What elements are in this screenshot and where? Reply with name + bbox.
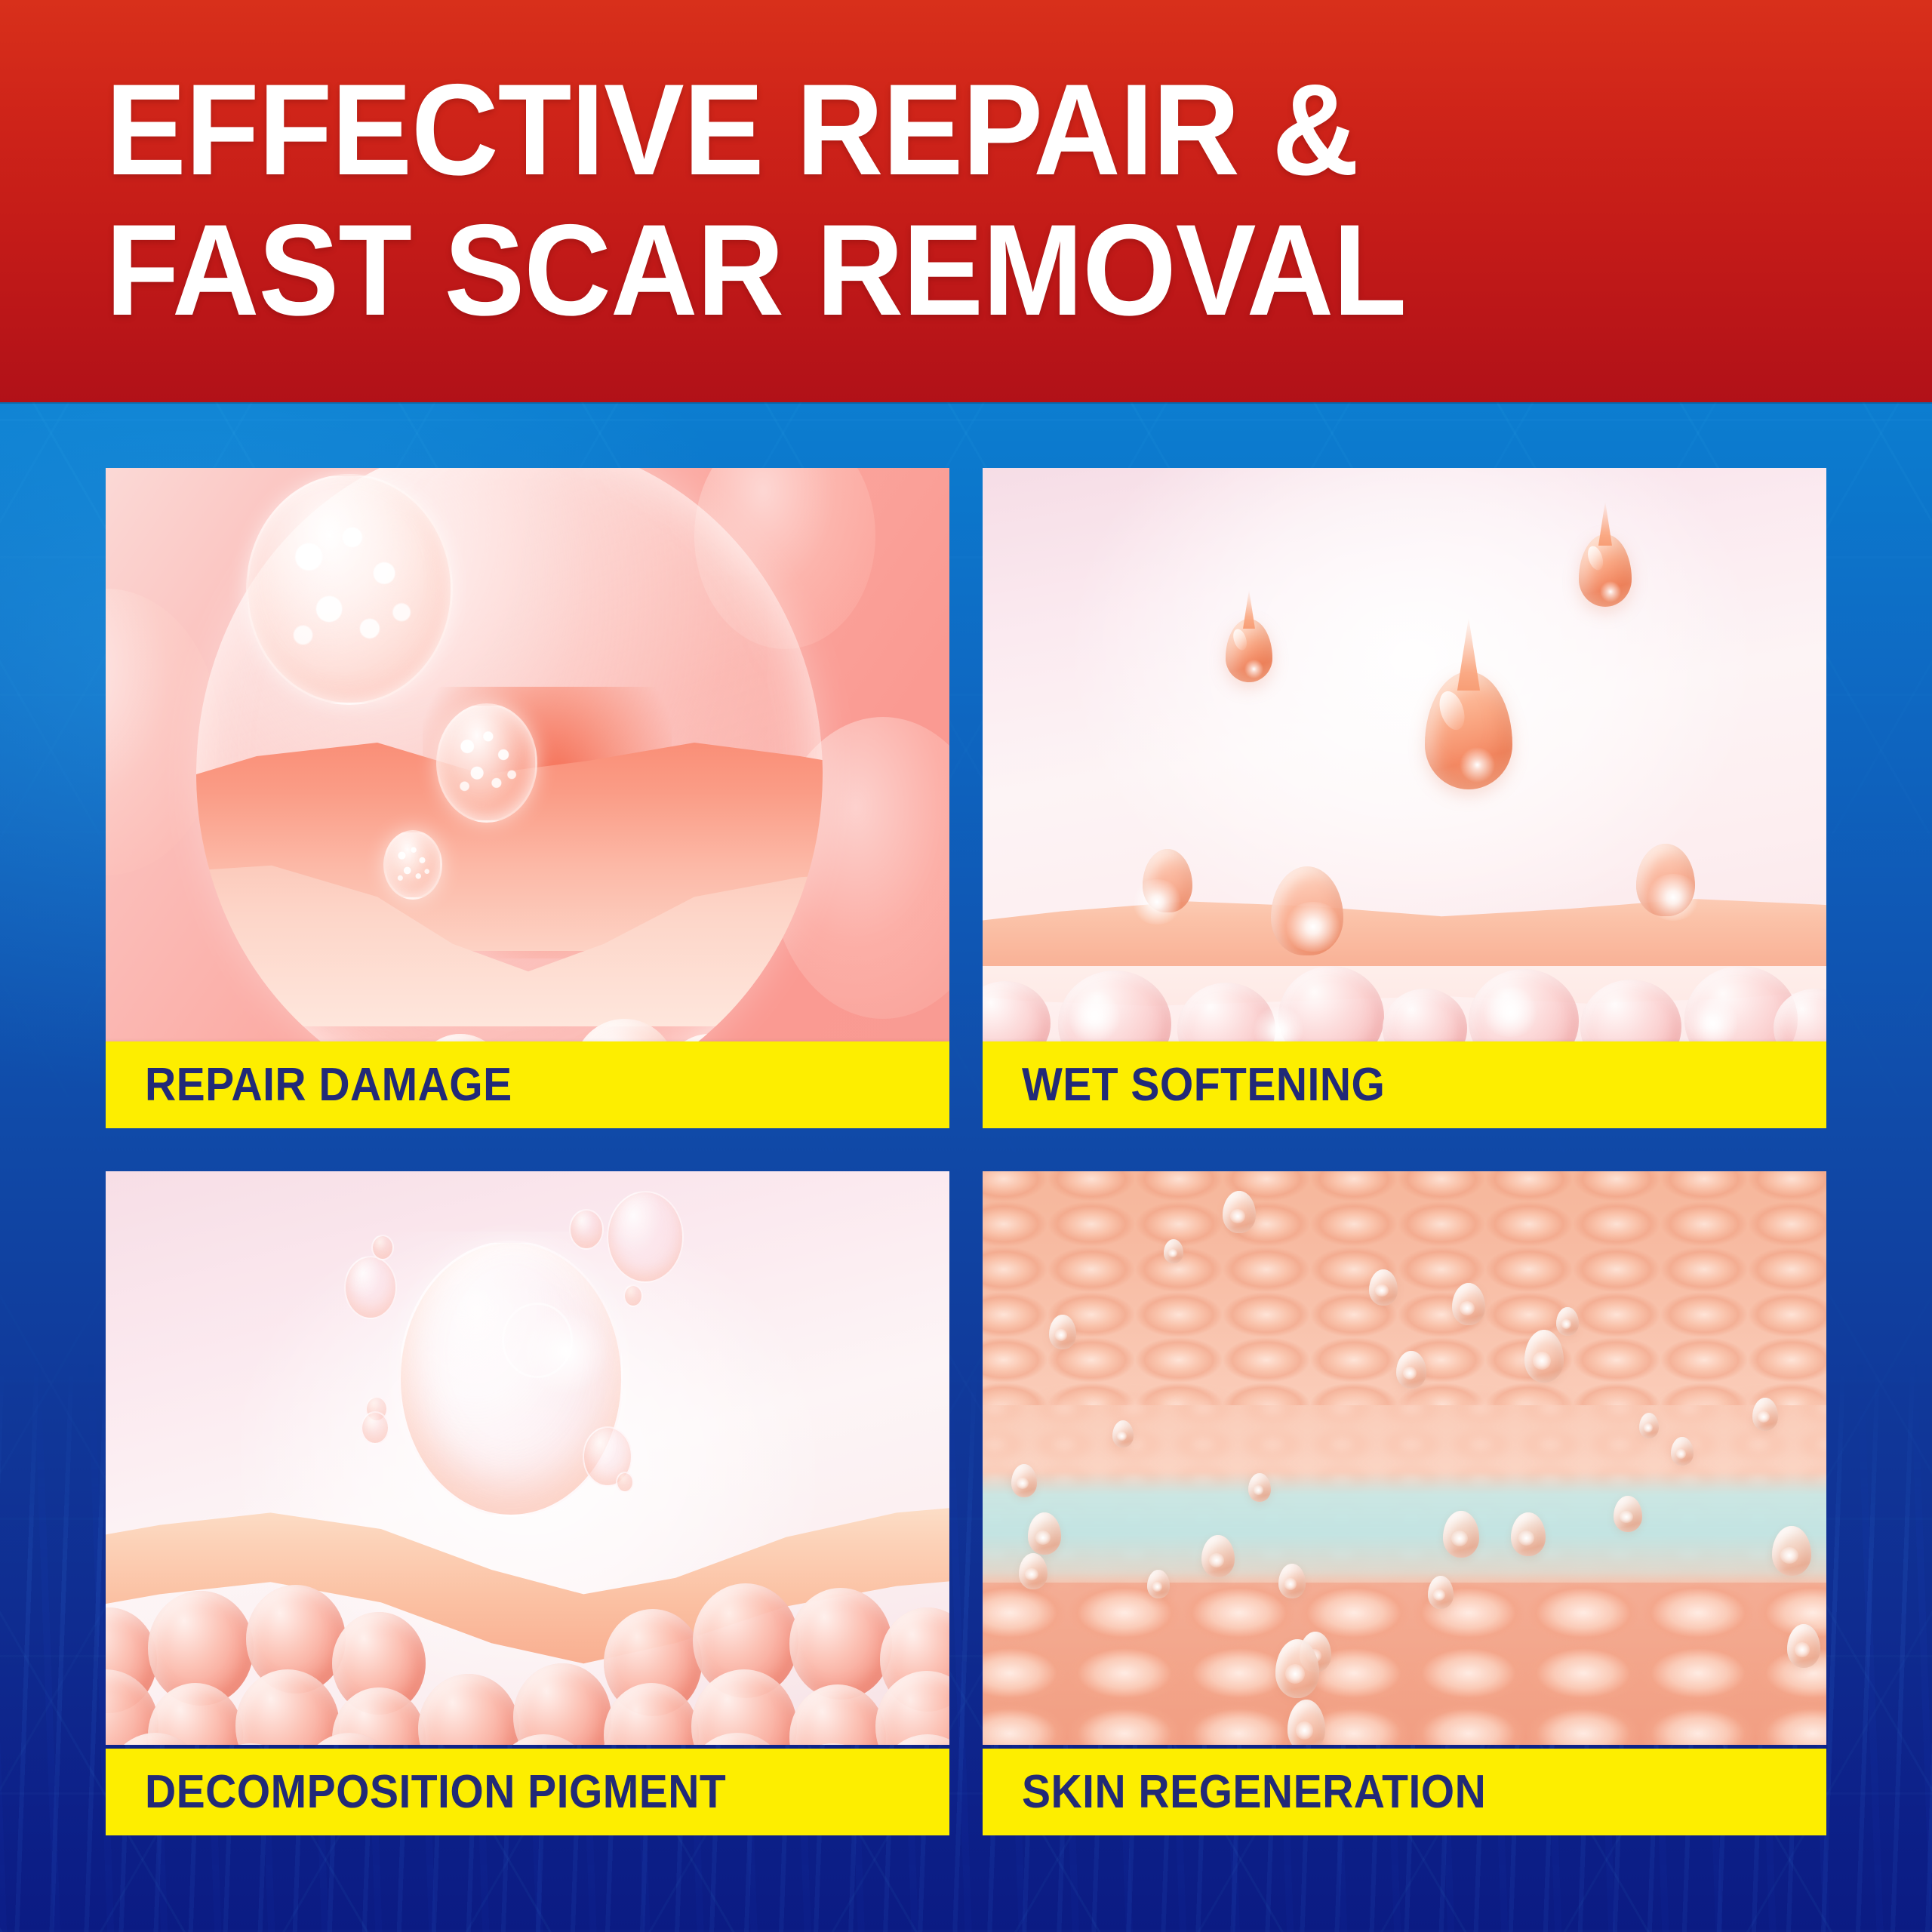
pigment-bubble-medium [607, 1191, 684, 1283]
label-bar-wet-softening: WET SOFTENING [983, 1041, 1826, 1128]
pigment-bubble-tiny [361, 1411, 389, 1444]
serum-capsule-small [383, 830, 442, 900]
illustration-repair-damage [106, 468, 949, 1041]
serum-capsule-large [246, 474, 453, 705]
water-droplet [1396, 1351, 1426, 1389]
pigment-cell-layer [106, 1564, 949, 1745]
water-droplet [1752, 1398, 1778, 1431]
label-bar-repair-damage: REPAIR DAMAGE [106, 1041, 949, 1128]
water-droplet [1428, 1576, 1454, 1609]
water-droplet [1452, 1283, 1485, 1325]
feature-card-decomposition-pigment[interactable]: DECOMPOSITION PIGMENT [106, 1171, 949, 1835]
water-droplet [1671, 1437, 1694, 1466]
water-droplet [1049, 1315, 1076, 1349]
water-droplet [1614, 1496, 1642, 1532]
serum-capsule-medium [436, 703, 537, 823]
subcutaneous-cells [196, 958, 823, 1041]
illustration-skin-regeneration [983, 1171, 1826, 1745]
pigment-bubble-tiny [616, 1472, 634, 1493]
capsule-particles [393, 841, 432, 888]
capsule-particles [277, 508, 423, 671]
water-droplet [1223, 1191, 1256, 1233]
pigment-bubble-tiny [623, 1284, 643, 1307]
water-droplet [1511, 1512, 1546, 1556]
feature-card-repair-damage[interactable]: REPAIR DAMAGE [106, 468, 949, 1128]
capsule-particles [452, 721, 521, 804]
dermis-bubble-layer [983, 966, 1826, 1041]
water-droplet [1556, 1307, 1579, 1336]
water-droplet [1248, 1473, 1271, 1502]
water-droplet [1278, 1564, 1306, 1598]
illustration-decomposition-pigment [106, 1171, 949, 1745]
poster-root: EFFECTIVE REPAIR & FAST SCAR REMOVAL [0, 0, 1932, 1932]
water-droplet [1147, 1570, 1170, 1598]
panel-label: REPAIR DAMAGE [145, 1058, 512, 1112]
panel-label: SKIN REGENERATION [1022, 1765, 1486, 1819]
label-bar-skin-regeneration: SKIN REGENERATION [983, 1749, 1826, 1835]
panel-label: DECOMPOSITION PIGMENT [145, 1765, 726, 1819]
label-bar-decomposition-pigment: DECOMPOSITION PIGMENT [106, 1749, 949, 1835]
water-droplet [1112, 1420, 1134, 1447]
water-droplet [1369, 1269, 1398, 1306]
feature-card-skin-regeneration[interactable]: SKIN REGENERATION [983, 1171, 1826, 1835]
pigment-bubble-tiny [569, 1209, 604, 1250]
water-droplet [1787, 1624, 1820, 1668]
water-droplet [1639, 1413, 1659, 1438]
hydration-band [983, 1472, 1826, 1585]
panel-label: WET SOFTENING [1022, 1058, 1385, 1112]
water-droplet [1028, 1512, 1061, 1555]
pigment-bubble-tiny [371, 1235, 394, 1260]
feature-panel-grid: REPAIR DAMAGE [0, 0, 1932, 1932]
pigment-bubble-small [344, 1256, 397, 1319]
sparkle-icon [1131, 879, 1183, 924]
water-droplet [1019, 1553, 1048, 1589]
illustration-wet-softening [983, 468, 1826, 1041]
lower-cell-scales [983, 1583, 1826, 1745]
feature-card-wet-softening[interactable]: WET SOFTENING [983, 468, 1826, 1128]
sparkle-icon [1645, 874, 1701, 921]
water-droplet [1011, 1464, 1037, 1497]
water-droplet [1164, 1239, 1183, 1263]
sparkle-icon [1283, 902, 1343, 952]
water-droplet [1201, 1535, 1235, 1577]
water-droplet [1443, 1511, 1479, 1558]
